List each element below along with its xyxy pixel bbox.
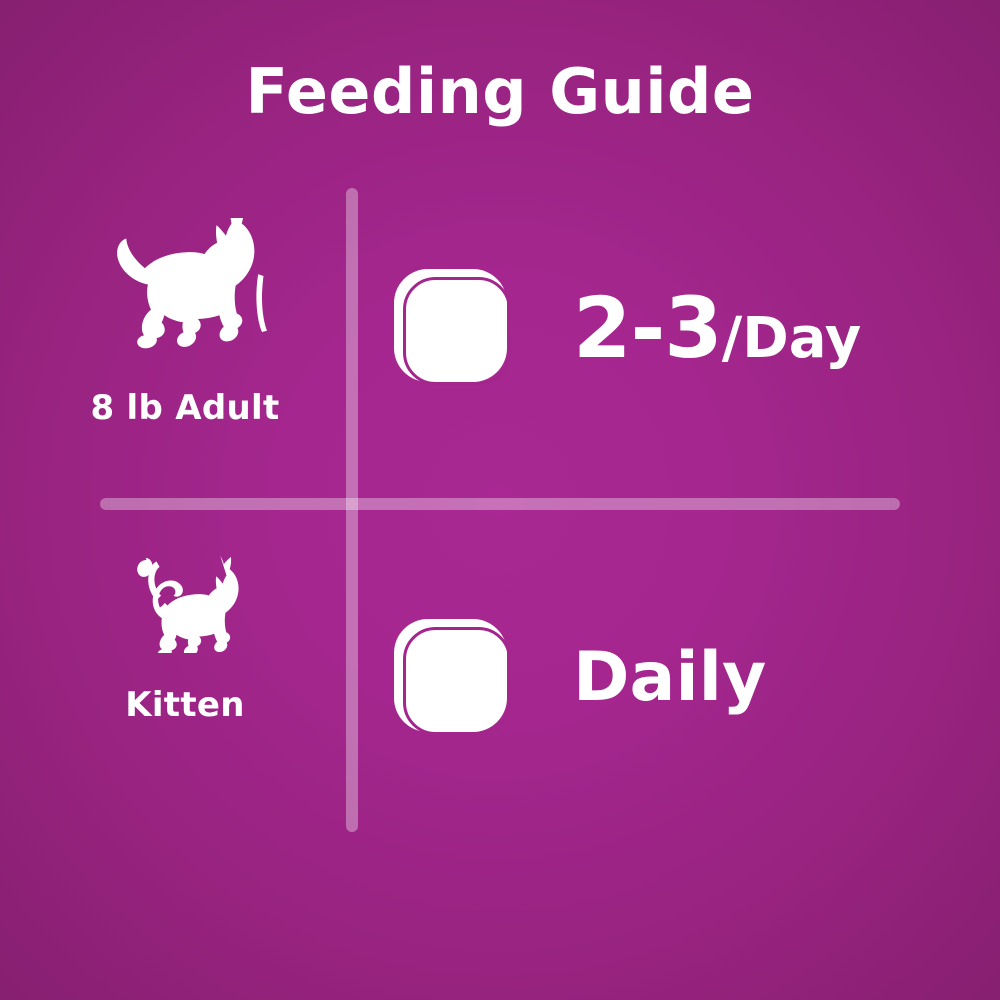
kitten-serving-amount: Daily xyxy=(573,644,766,712)
divider-horizontal xyxy=(100,498,900,510)
food-pouch-icon xyxy=(390,616,515,739)
adult-pet-cell: 8 lb Adult xyxy=(40,218,330,428)
adult-serving-cell: 2-3 /Day xyxy=(390,265,950,390)
food-pouch-icon xyxy=(390,266,515,389)
kitten-serving-cell: Daily xyxy=(390,615,950,740)
page-title: Feeding Guide xyxy=(0,58,1000,126)
kitten-serving-text: Daily xyxy=(573,644,766,712)
kitten-pet-cell: Kitten xyxy=(40,548,330,725)
divider-vertical xyxy=(346,188,358,832)
feeding-guide-infographic: Feeding Guide 8 lb Adult 2-3 /Day xyxy=(0,0,1000,1000)
adult-serving-text: 2-3 /Day xyxy=(573,286,861,370)
kitten-pet-label: Kitten xyxy=(40,685,330,725)
adult-serving-frequency: /Day xyxy=(722,311,862,367)
adult-serving-amount: 2-3 xyxy=(573,286,722,370)
adult-pet-label: 8 lb Adult xyxy=(40,388,330,428)
kitten-cat-icon xyxy=(120,548,250,653)
adult-cat-icon xyxy=(85,218,285,358)
